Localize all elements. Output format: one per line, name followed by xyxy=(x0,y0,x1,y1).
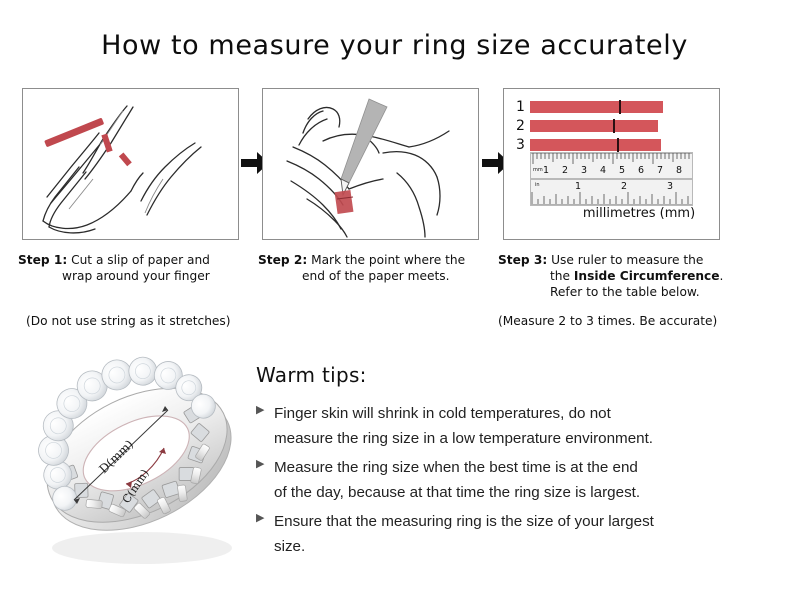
tip-text: Ensure that the measuring ring is the si… xyxy=(274,509,654,559)
measured-strip-row: 1 xyxy=(516,101,663,113)
ruler-inch-unit-label: in xyxy=(535,182,540,188)
pen-icon xyxy=(341,99,387,195)
step-3-text-line2-suffix: . xyxy=(720,269,724,283)
strip-number: 2 xyxy=(516,120,530,132)
tip-line-1: Ensure that the measuring ring is the si… xyxy=(274,513,654,530)
hand-with-paper-strip-drawing xyxy=(23,89,238,239)
strip-number: 1 xyxy=(516,101,530,113)
ruler-unit-label: mm xyxy=(533,167,543,173)
strip-mark xyxy=(617,138,619,152)
tip-line-1: Finger skin will shrink in cold temperat… xyxy=(274,405,611,422)
hand-marking-strip-with-pen-drawing xyxy=(263,89,478,239)
step-1-note: (Do not use string as it stretches) xyxy=(26,314,231,328)
step-1-illustration-panel xyxy=(22,88,239,240)
step-2-text-line2: end of the paper meets. xyxy=(302,269,450,283)
step-2-illustration-panel xyxy=(262,88,479,240)
step-2-text-line1: Mark the point where the xyxy=(311,253,465,267)
step-3-text-line1: Use ruler to measure the xyxy=(551,253,703,267)
strip-number: 3 xyxy=(516,139,530,151)
tip-line-2: size. xyxy=(274,534,654,559)
steps-illustration-row: 1 2 3 xyxy=(0,88,789,243)
bullet-triangle-icon: ▶ xyxy=(256,509,274,523)
ruler-unit-caption: millimetres (mm) xyxy=(564,206,714,221)
warm-tips-section: Warm tips: ▶ Finger skin will shrink in … xyxy=(256,363,776,563)
warm-tips-heading: Warm tips: xyxy=(256,363,776,387)
step-3-text-line2-prefix: the xyxy=(550,269,574,283)
strip-bar xyxy=(530,101,663,113)
ruler-cm-tick-label: 8 xyxy=(676,165,682,176)
tip-line-2: of the day, because at that time the rin… xyxy=(274,480,640,505)
step-2-caption: Step 2: Mark the point where the end of … xyxy=(258,252,494,284)
strip-bar xyxy=(530,139,661,151)
step-3-text-line3: Refer to the table below. xyxy=(550,285,700,299)
bullet-triangle-icon: ▶ xyxy=(256,401,274,415)
ruler-inch-scale: in 1 2 3 xyxy=(530,179,693,206)
step-1-text-line1: Cut a slip of paper and xyxy=(71,253,210,267)
strip-mark xyxy=(613,119,615,133)
ruler-cm-tick-label: 5 xyxy=(619,165,625,176)
tip-item: ▶ Finger skin will shrink in cold temper… xyxy=(256,401,776,451)
ruler-cm-tick-label: 6 xyxy=(638,165,644,176)
ring-diagram: D(mm) C(mm) xyxy=(18,352,254,582)
ruler-cm-tick-label: 3 xyxy=(581,165,587,176)
ruler-cm-tick-label: 4 xyxy=(600,165,606,176)
ruler-cm-tick-label: 2 xyxy=(562,165,568,176)
tip-item: ▶ Measure the ring size when the best ti… xyxy=(256,455,776,505)
tip-line-1: Measure the ring size when the best time… xyxy=(274,459,638,476)
step-3-label: Step 3: xyxy=(498,253,547,267)
ring-diagram-svg: D(mm) C(mm) xyxy=(18,352,254,582)
step-3-illustration-panel: 1 2 3 xyxy=(503,88,720,240)
bullet-triangle-icon: ▶ xyxy=(256,455,274,469)
step-1-label: Step 1: xyxy=(18,253,67,267)
tip-line-2: measure the ring size in a low temperatu… xyxy=(274,426,653,451)
step-2-label: Step 2: xyxy=(258,253,307,267)
ruler-cm-tick-label: 1 xyxy=(543,165,549,176)
measured-strip-row: 3 xyxy=(516,139,661,151)
ruler-cm-tick-label: 7 xyxy=(657,165,663,176)
ruler-centimetre-scale: mm 1 2 3 4 5 6 7 8 xyxy=(530,152,693,179)
step-3-note: (Measure 2 to 3 times. Be accurate) xyxy=(498,314,717,328)
step-1-caption: Step 1: Cut a slip of paper and wrap aro… xyxy=(18,252,254,284)
tip-text: Measure the ring size when the best time… xyxy=(274,455,640,505)
inside-circumference-emphasis: Inside Circumference xyxy=(574,269,720,283)
measured-strip-row: 2 xyxy=(516,120,658,132)
tip-item: ▶ Ensure that the measuring ring is the … xyxy=(256,509,776,559)
tip-text: Finger skin will shrink in cold temperat… xyxy=(274,401,653,451)
strip-mark xyxy=(619,100,621,114)
page-title: How to measure your ring size accurately xyxy=(0,30,789,61)
red-paper-strip xyxy=(44,118,104,148)
step-1-text-line2: wrap around your finger xyxy=(62,269,210,283)
strip-bar xyxy=(530,120,658,132)
step-3-caption: Step 3: Use ruler to measure the the Ins… xyxy=(498,252,748,300)
